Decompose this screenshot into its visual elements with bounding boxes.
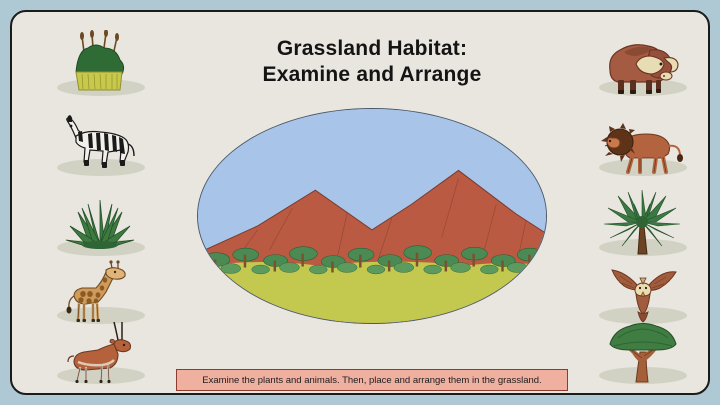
buffalo-icon <box>590 30 696 100</box>
lion-icon <box>590 110 696 180</box>
gazelle-icon <box>48 318 154 388</box>
item-shrub[interactable] <box>48 190 154 260</box>
item-palm-tree[interactable] <box>590 190 696 260</box>
page-title: Grassland Habitat: Examine and Arrange <box>192 36 552 88</box>
item-zebra[interactable] <box>48 110 154 180</box>
grass-tuft-icon <box>48 30 154 100</box>
item-gazelle[interactable] <box>48 318 154 388</box>
slide-stage: Grassland Habitat: Examine and Arrange <box>0 0 720 405</box>
item-lion[interactable] <box>590 110 696 180</box>
item-grass-tuft[interactable] <box>48 30 154 100</box>
zebra-icon <box>48 110 154 180</box>
palm-tree-icon <box>590 190 696 260</box>
slide-card: Grassland Habitat: Examine and Arrange <box>10 10 710 395</box>
shrub-icon <box>48 190 154 260</box>
title-line-2: Examine and Arrange <box>192 62 552 88</box>
savanna-illustration <box>198 109 546 323</box>
item-acacia-tree[interactable] <box>590 318 696 388</box>
grassland-scene-oval[interactable] <box>197 108 547 324</box>
instruction-banner: Examine the plants and animals. Then, pl… <box>176 369 568 391</box>
item-buffalo[interactable] <box>590 30 696 100</box>
instruction-text: Examine the plants and animals. Then, pl… <box>202 375 541 386</box>
title-line-1: Grassland Habitat: <box>277 37 467 60</box>
acacia-tree-icon <box>590 318 696 388</box>
